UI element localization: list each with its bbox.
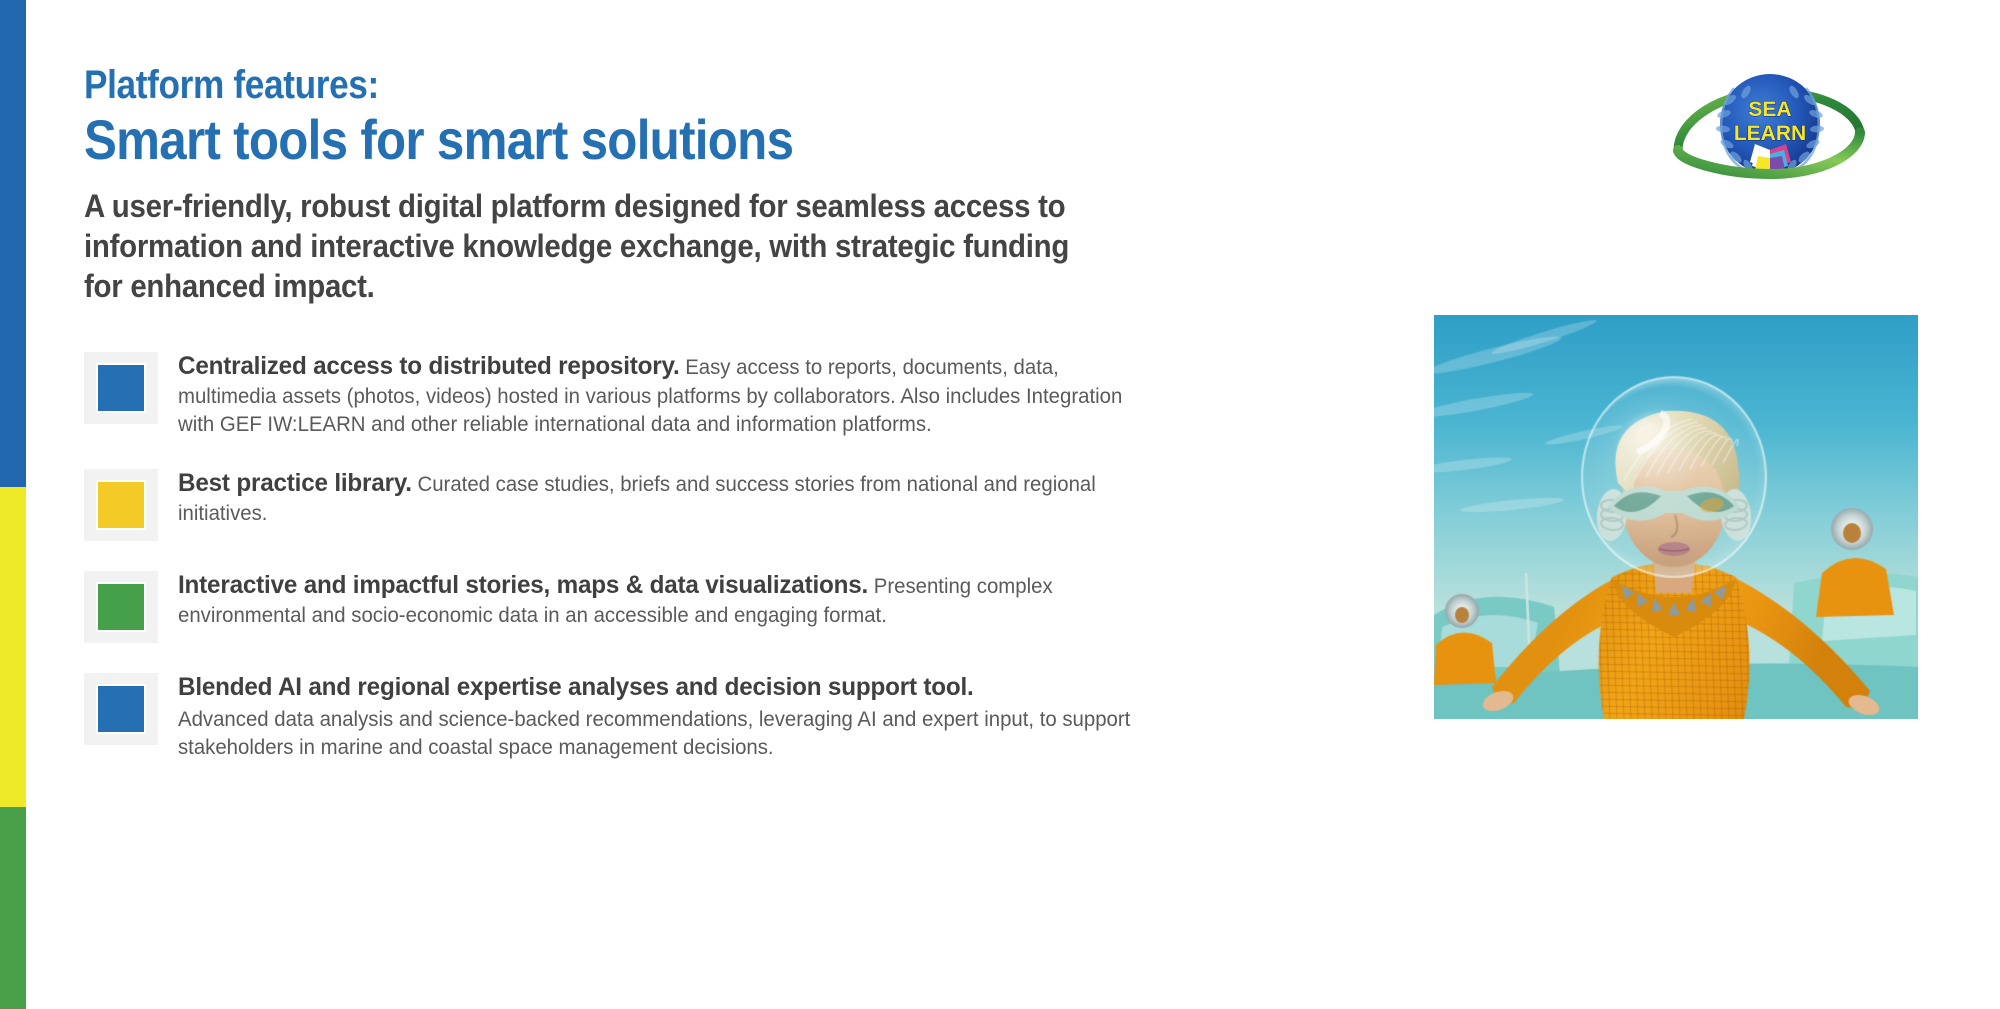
feature-item: Best practice library. Curated case stud… [84,465,1124,541]
feature-list: Centralized access to distributed reposi… [84,348,1124,762]
slide-headline: Smart tools for smart solutions [84,110,999,169]
feature-text: Blended AI and regional expertise analys… [178,669,1168,762]
rail-segment-yellow [0,487,26,807]
heading-block: Platform features: Smart tools for smart… [84,0,1124,306]
feature-body: Advanced data analysis and science-backe… [178,708,1130,759]
feature-paragraph: Interactive and impactful stories, maps … [178,569,1138,630]
feature-item: Centralized access to distributed reposi… [84,348,1124,439]
rail-segment-green [0,807,26,1009]
rail-segment-blue [0,0,26,487]
feature-text: Centralized access to distributed reposi… [178,348,1168,439]
feature-paragraph: Best practice library. Curated case stud… [178,467,1138,528]
feature-swatch-frame [84,352,158,424]
feature-swatch-frame [84,571,158,643]
slide-kicker: Platform features: [84,64,999,106]
square-swatch-icon [96,582,146,632]
slide-content: Platform features: Smart tools for smart… [84,0,1124,1009]
hero-photo [1434,315,1918,719]
slide-deck: A user-friendly, robust digital platform… [84,186,1110,306]
feature-swatch-frame [84,673,158,745]
feature-paragraph: Blended AI and regional expertise analys… [178,671,1138,762]
square-swatch-icon [96,363,146,413]
feature-item: Blended AI and regional expertise analys… [84,669,1124,762]
square-swatch-icon [96,480,146,530]
feature-text: Best practice library. Curated case stud… [178,465,1168,528]
feature-item: Interactive and impactful stories, maps … [84,567,1124,643]
square-swatch-icon [96,684,146,734]
feature-paragraph: Centralized access to distributed reposi… [178,350,1138,439]
logo-text-line2: LEARN [1734,122,1806,145]
feature-swatch-frame [84,469,158,541]
feature-lead: Interactive and impactful stories, maps … [178,571,868,599]
logo-text-line1: SEA [1748,98,1791,121]
feature-text: Interactive and impactful stories, maps … [178,567,1168,630]
sea-learn-logo: SEA LEARN [1660,58,1875,193]
feature-lead: Blended AI and regional expertise analys… [178,671,1138,704]
feature-lead: Centralized access to distributed reposi… [178,352,680,380]
left-color-rail [0,0,26,1009]
feature-lead: Best practice library. [178,469,412,497]
hero-photo-canvas [1434,315,1918,719]
